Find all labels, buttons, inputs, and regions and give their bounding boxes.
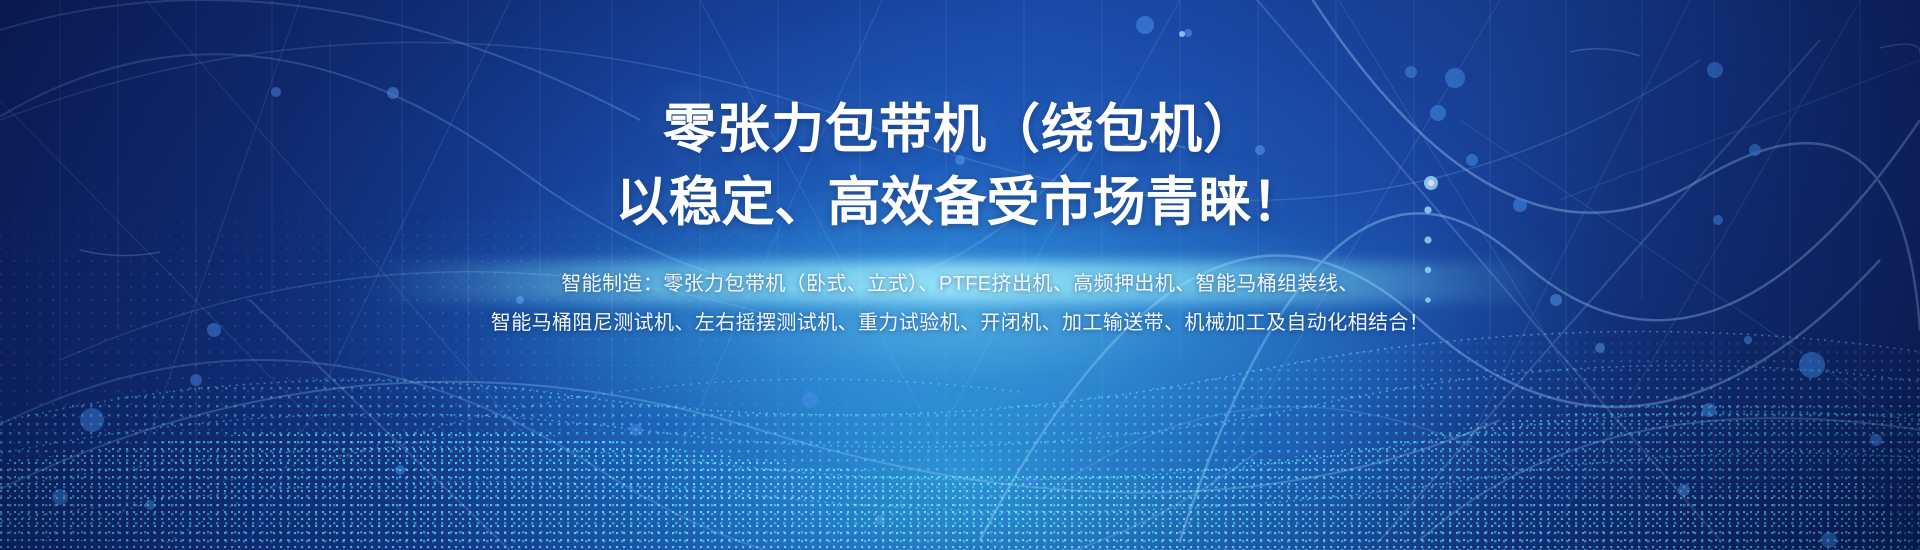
hero-banner: 零张力包带机（绕包机） 以稳定、高效备受市场青睐！ 智能制造：零张力包带机（卧式… xyxy=(0,0,1920,550)
banner-title-line-1: 零张力包带机（绕包机） xyxy=(663,96,1257,165)
banner-subtitle-line-2: 智能马桶阻尼测试机、左右摇摆测试机、重力试验机、开闭机、加工输送带、机械加工及自… xyxy=(491,304,1429,343)
banner-title-line-2: 以稳定、高效备受市场青睐！ xyxy=(616,169,1305,238)
banner-subtitle: 智能制造：零张力包带机（卧式、立式）、PTFE挤出机、高频押出机、智能马桶组装线… xyxy=(491,265,1429,343)
banner-subtitle-line-1: 智能制造：零张力包带机（卧式、立式）、PTFE挤出机、高频押出机、智能马桶组装线… xyxy=(561,265,1359,304)
banner-content: 零张力包带机（绕包机） 以稳定、高效备受市场青睐！ 智能制造：零张力包带机（卧式… xyxy=(0,0,1920,550)
